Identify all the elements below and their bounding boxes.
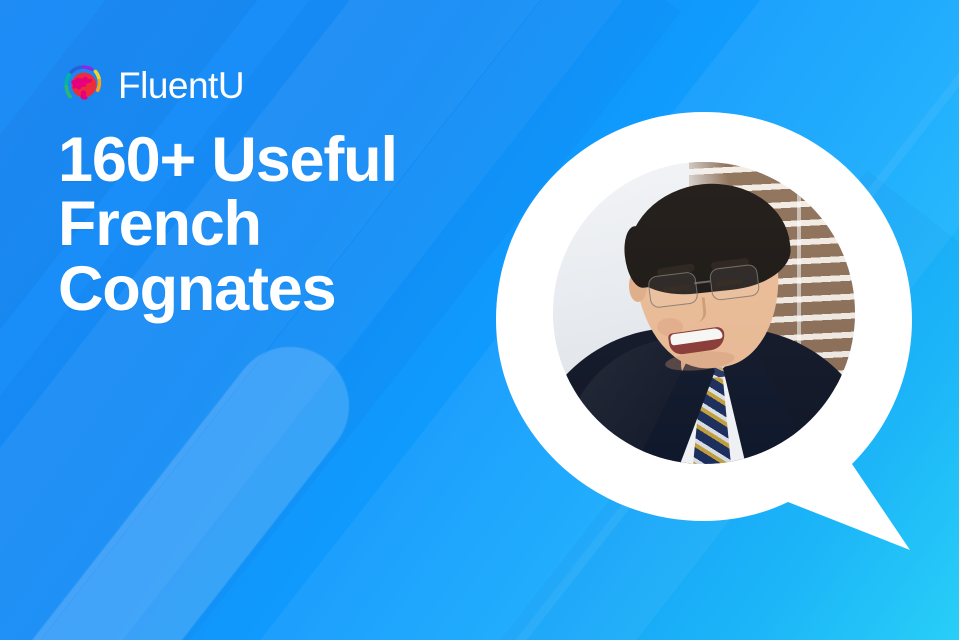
fluentu-globe-logo-icon: [62, 63, 106, 107]
speech-bubble-portrait: [492, 110, 912, 560]
promo-banner: FluentU 160+ Useful French Cognates: [0, 0, 959, 640]
page-title: 160+ Useful French Cognates: [58, 128, 488, 321]
brand-name: FluentU: [118, 67, 244, 104]
brand-logo[interactable]: FluentU: [62, 63, 244, 107]
portrait-photo: [553, 162, 855, 464]
